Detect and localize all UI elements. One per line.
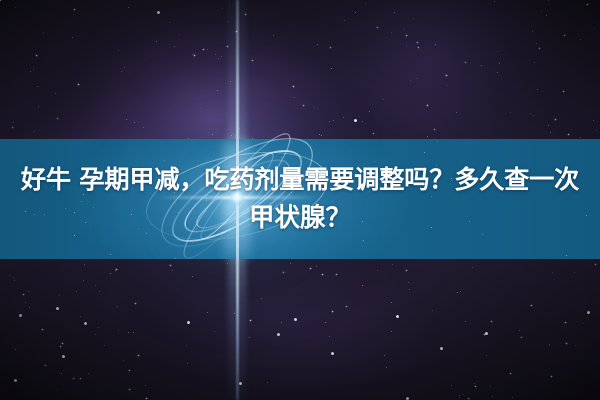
headline-line-1: 好牛 孕期甲减，吃药剂量需要调整吗？多久查一次 (21, 163, 579, 197)
headline-line-2: 甲状腺？ (249, 201, 351, 235)
banner-image: 好牛 孕期甲减，吃药剂量需要调整吗？多久查一次 甲状腺？ (0, 0, 600, 400)
headline-text-block: 好牛 孕期甲减，吃药剂量需要调整吗？多久查一次 甲状腺？ (0, 139, 600, 259)
